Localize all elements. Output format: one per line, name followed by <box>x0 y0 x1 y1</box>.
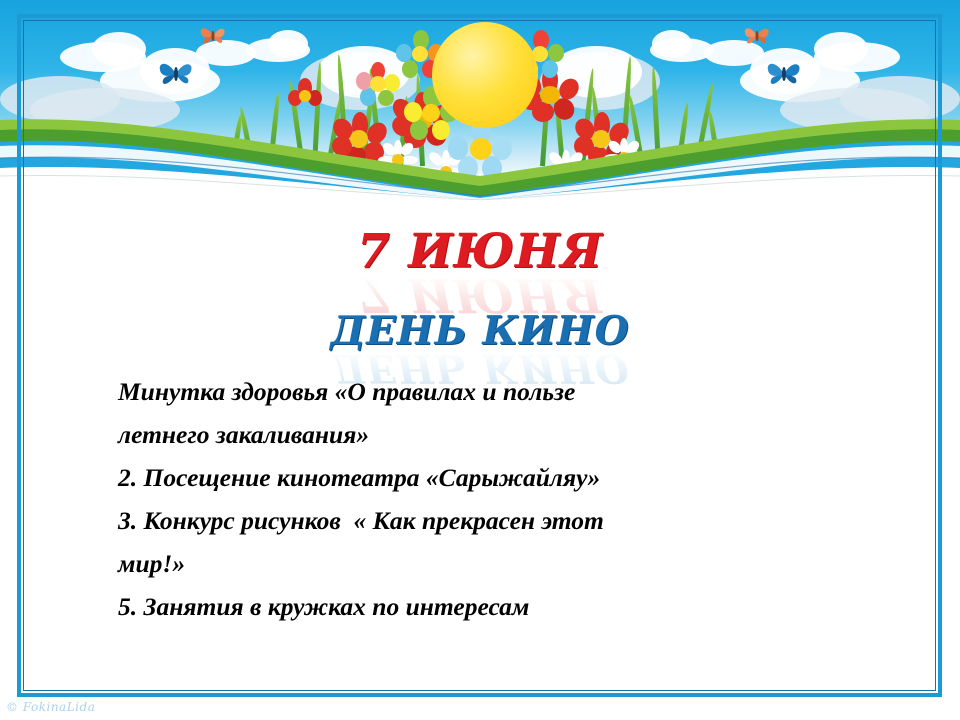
agenda-list: Минутка здоровья «О правилах и пользе ле… <box>118 370 838 628</box>
list-item: 2. Посещение кинотеатра «Сарыжайляу» <box>118 456 838 499</box>
list-item: 3. Конкурс рисунков « Как прекрасен этот <box>118 499 838 542</box>
list-item: 5. Занятия в кружках по интересам <box>118 585 838 628</box>
butterfly-icon <box>198 24 228 48</box>
butterfly-icon <box>156 58 196 90</box>
page-subtitle: ДЕНЬ КИНО <box>0 312 960 351</box>
page-title: 7 ИЮНЯ <box>0 228 960 275</box>
butterfly-icon <box>742 24 772 48</box>
list-item: мир!» <box>118 542 838 585</box>
list-item: Минутка здоровья «О правилах и пользе <box>118 370 838 413</box>
slide: 7 ИЮНЯ 7 ИЮНЯ ДЕНЬ КИНО ДЕНЬ КИНО Минутк… <box>0 0 960 720</box>
title-block: 7 ИЮНЯ 7 ИЮНЯ <box>0 228 960 318</box>
butterfly-icon <box>764 58 804 90</box>
list-item: летнего закаливания» <box>118 413 838 456</box>
sun-icon <box>432 22 538 128</box>
watermark: © FokinaLida <box>6 700 95 714</box>
